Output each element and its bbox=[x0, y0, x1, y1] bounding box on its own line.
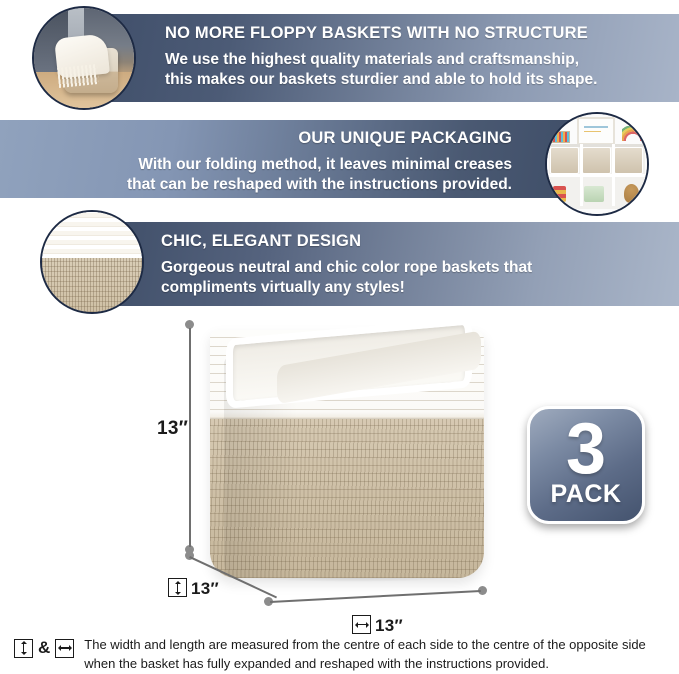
banner-3-body-line-1: Gorgeous neutral and chic color rope bas… bbox=[161, 258, 669, 279]
depth-value: 13″ bbox=[191, 579, 219, 598]
ampersand: & bbox=[38, 638, 50, 658]
product-basket-illustration bbox=[196, 320, 498, 582]
footer-icon-group: & bbox=[14, 636, 74, 658]
photo-tan-rope-section bbox=[42, 258, 142, 312]
banner-2-body-line-2: that can be reshaped with the instructio… bbox=[10, 175, 512, 196]
footer-line-1: The width and length are measured from t… bbox=[84, 636, 646, 655]
photo-block-toy bbox=[553, 186, 566, 202]
pack-label: PACK bbox=[551, 482, 622, 507]
photo-blanket-fringe bbox=[57, 64, 99, 88]
photo-abacus-toy bbox=[552, 131, 570, 143]
width-value: 13″ bbox=[375, 616, 403, 635]
vertical-arrow-icon bbox=[168, 578, 187, 597]
photo-rope-texture-closeup bbox=[40, 210, 144, 314]
photo-art-stripe-yellow bbox=[584, 131, 602, 132]
photo-storage-bin bbox=[582, 147, 611, 174]
photo-folded-linens bbox=[584, 186, 604, 202]
feature-banner-chic-elegant-design: CHIC, ELEGANT DESIGN Gorgeous neutral an… bbox=[105, 222, 679, 306]
photo-art-stripe-blue bbox=[584, 126, 608, 127]
footer-text: The width and length are measured from t… bbox=[84, 636, 646, 674]
photo-rainbow-toy bbox=[622, 126, 644, 141]
banner-1-body-line-1: We use the highest quality materials and… bbox=[165, 50, 669, 71]
photo-storage-bin bbox=[550, 147, 579, 174]
photo-shelf-divider bbox=[549, 174, 645, 177]
feature-banner-unique-packaging: OUR UNIQUE PACKAGING With our folding me… bbox=[0, 120, 574, 198]
photo-wall-art bbox=[577, 117, 615, 145]
dimension-label-width: 13″ bbox=[352, 615, 403, 636]
dimension-line-width bbox=[270, 590, 481, 603]
photo-shelf-divider bbox=[580, 144, 583, 206]
banner-1-body-line-2: this makes our baskets sturdier and able… bbox=[165, 70, 669, 91]
photo-shelf-divider bbox=[612, 144, 615, 206]
pack-count: 3 bbox=[566, 419, 606, 481]
banner-3-body-line-2: compliments virtually any styles! bbox=[161, 278, 669, 299]
banner-2-body-line-1: With our folding method, it leaves minim… bbox=[10, 155, 512, 176]
dimension-label-height: 13″ bbox=[157, 418, 188, 440]
vertical-arrow-icon bbox=[14, 639, 33, 658]
photo-teddy-bear bbox=[624, 184, 639, 203]
horizontal-arrow-icon bbox=[352, 615, 371, 634]
footer-line-2: when the basket has fully expanded and r… bbox=[84, 655, 646, 674]
measurement-disclaimer: & The width and length are measured from… bbox=[14, 636, 664, 674]
dimension-label-depth: 13″ bbox=[168, 578, 219, 599]
dimension-line-height bbox=[189, 328, 191, 547]
feature-banner-no-floppy-baskets: NO MORE FLOPPY BASKETS WITH NO STRUCTURE… bbox=[105, 14, 679, 102]
photo-storage-bin bbox=[614, 147, 643, 174]
photo-white-rope-section bbox=[42, 212, 142, 258]
three-pack-badge: 3 PACK bbox=[527, 406, 645, 524]
horizontal-arrow-icon bbox=[55, 639, 74, 658]
photo-cube-shelf-with-bins bbox=[545, 112, 649, 216]
photo-basket-with-throw-blanket bbox=[32, 6, 136, 110]
banner-2-heading: OUR UNIQUE PACKAGING bbox=[10, 128, 512, 149]
banner-1-heading: NO MORE FLOPPY BASKETS WITH NO STRUCTURE bbox=[165, 23, 669, 44]
banner-3-heading: CHIC, ELEGANT DESIGN bbox=[161, 231, 669, 252]
